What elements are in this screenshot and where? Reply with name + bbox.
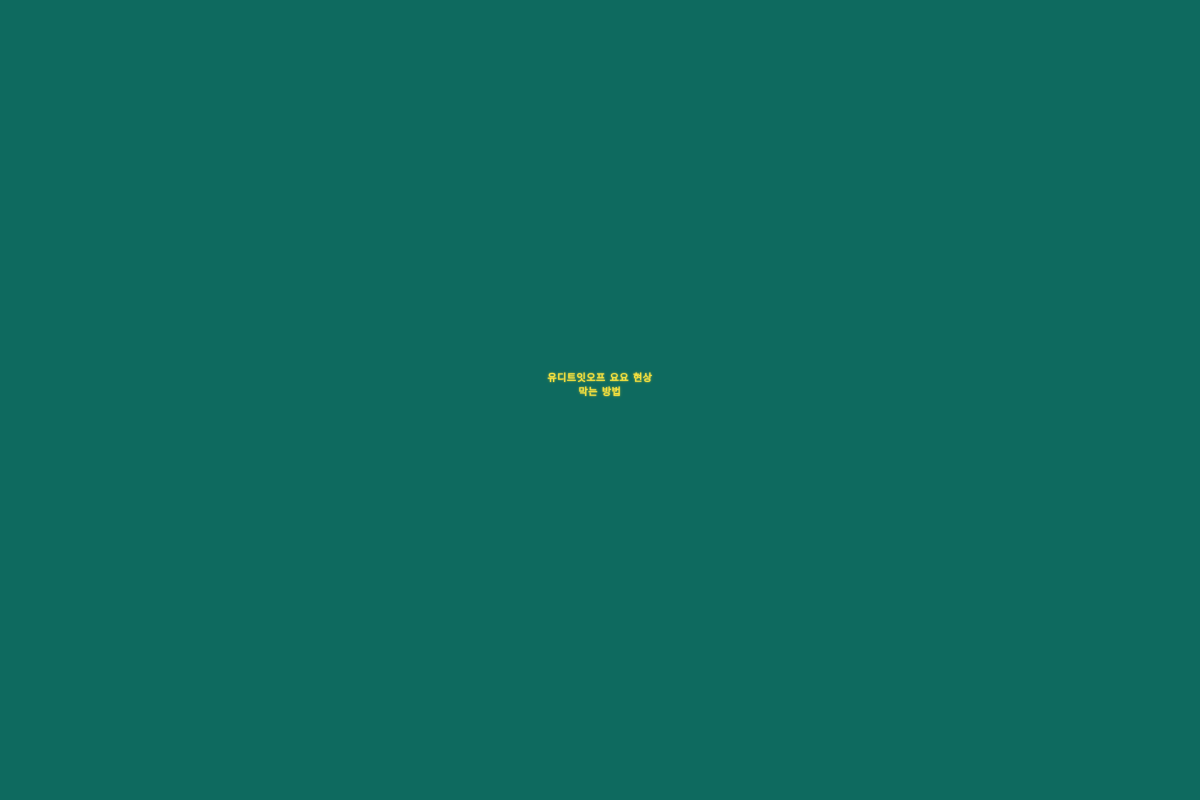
title-block: 유디트잇오프 요요 현상 막는 방법 <box>0 0 1200 800</box>
title-line-2: 막는 방법 <box>0 386 1200 400</box>
title-line-1: 유디트잇오프 요요 현상 <box>0 372 1200 386</box>
thumbnail-card: 유디트잇오프 요요 현상 막는 방법 <box>0 0 1200 800</box>
